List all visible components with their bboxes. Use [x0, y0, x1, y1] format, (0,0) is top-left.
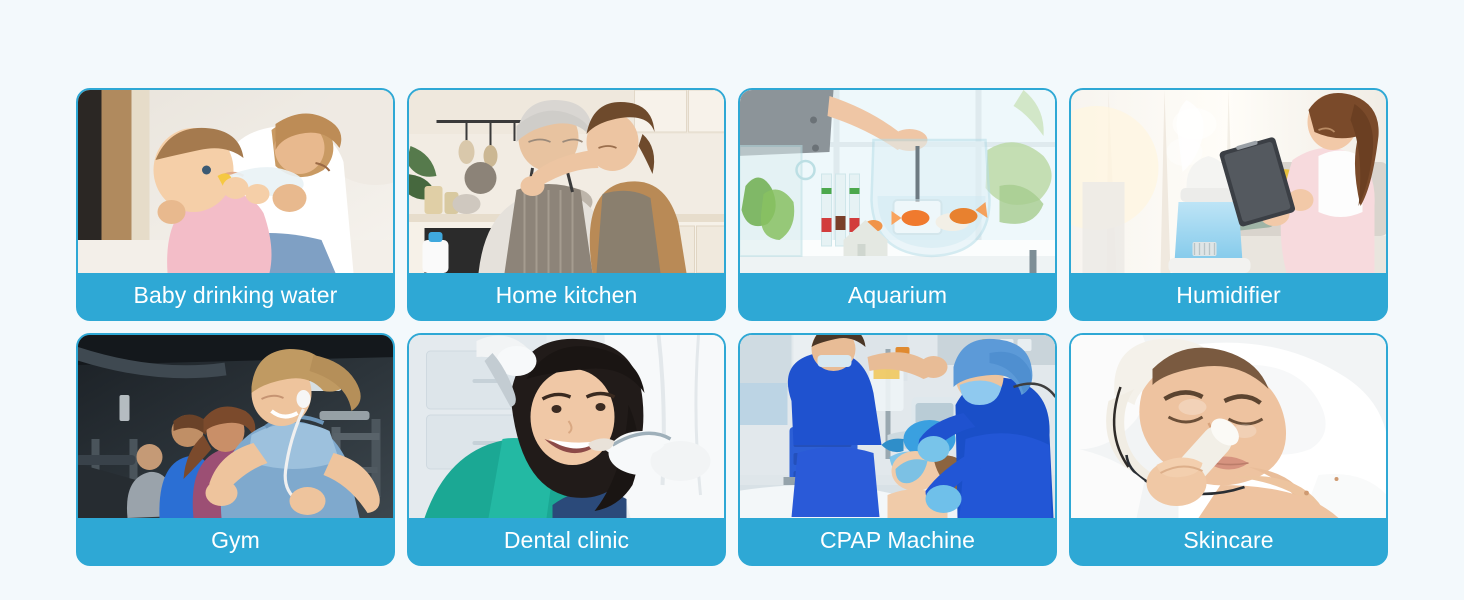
caption-skincare: Skincare	[1071, 518, 1386, 564]
caption-cpap-machine: CPAP Machine	[740, 518, 1055, 564]
photo-gym	[78, 335, 393, 518]
app-card-skincare[interactable]: Skincare	[1069, 333, 1388, 566]
caption-humidifier: Humidifier	[1071, 273, 1386, 319]
app-card-humidifier[interactable]: Humidifier	[1069, 88, 1388, 321]
caption-dental-clinic: Dental clinic	[409, 518, 724, 564]
photo-humidifier	[1071, 90, 1386, 273]
app-card-home-kitchen[interactable]: Home kitchen	[407, 88, 726, 321]
photo-cpap-machine	[740, 335, 1055, 518]
photo-baby-drinking-water	[78, 90, 393, 273]
photo-home-kitchen	[409, 90, 724, 273]
app-card-baby-drinking-water[interactable]: Baby drinking water	[76, 88, 395, 321]
app-card-cpap-machine[interactable]: CPAP Machine	[738, 333, 1057, 566]
application-scenarios-grid: Baby drinking water	[76, 88, 1388, 566]
photo-aquarium	[740, 90, 1055, 273]
app-card-dental-clinic[interactable]: Dental clinic	[407, 333, 726, 566]
photo-skincare	[1071, 335, 1386, 518]
caption-aquarium: Aquarium	[740, 273, 1055, 319]
caption-home-kitchen: Home kitchen	[409, 273, 724, 319]
caption-gym: Gym	[78, 518, 393, 564]
app-card-gym[interactable]: Gym	[76, 333, 395, 566]
photo-dental-clinic	[409, 335, 724, 518]
caption-baby-drinking-water: Baby drinking water	[78, 273, 393, 319]
app-card-aquarium[interactable]: Aquarium	[738, 88, 1057, 321]
